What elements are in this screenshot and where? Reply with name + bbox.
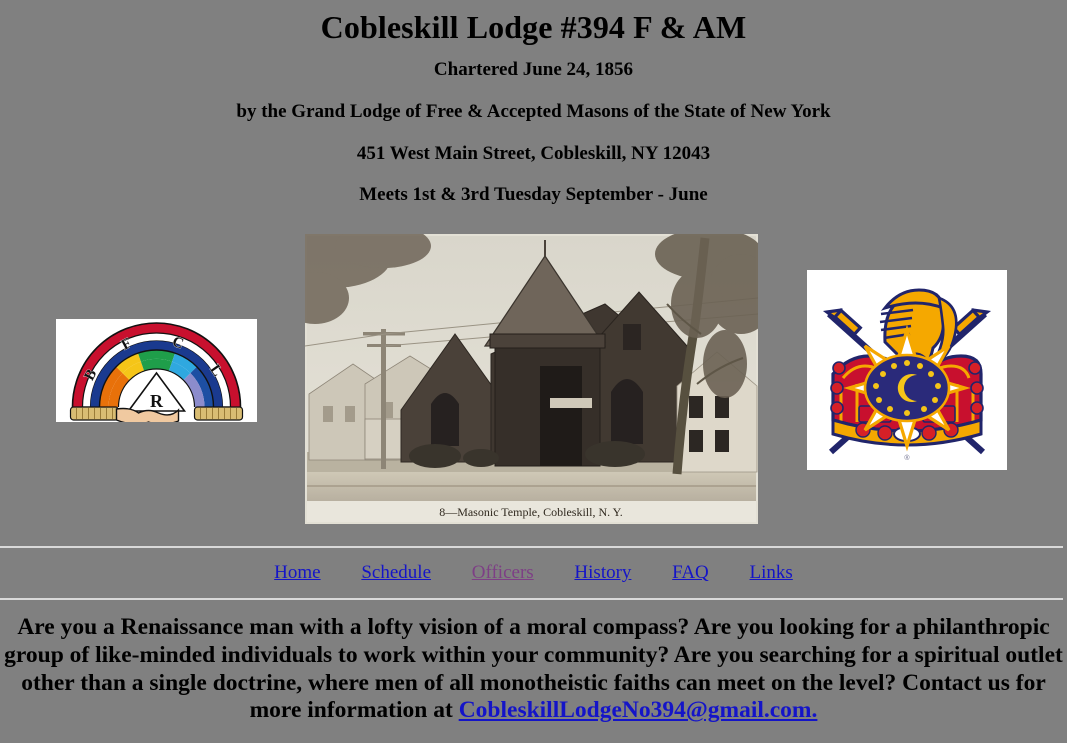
masonic-temple-photo-illustration: 8—Masonic Temple, Cobleskill, N. Y. [305,234,758,524]
main-navigation: Home Schedule Officers History FAQ Links [0,548,1067,598]
demolay-emblem: ® [807,270,1007,470]
nav-link-home[interactable]: Home [274,562,320,583]
registered-mark-icon: ® [904,454,910,462]
meeting-schedule-line: Meets 1st & 3rd Tuesday September - June [0,174,1067,216]
photo-caption: 8—Masonic Temple, Cobleskill, N. Y. [439,505,623,519]
rainbow-center-letter: R [150,391,164,411]
nav-link-faq[interactable]: FAQ [672,562,709,583]
address-line: 451 West Main Street, Cobleskill, NY 120… [0,133,1067,175]
page-title: Cobleskill Lodge #394 F & AM [0,4,1067,49]
charter-date-line: Chartered June 24, 1856 [0,49,1067,91]
nav-link-schedule[interactable]: Schedule [361,562,431,583]
nav-link-officers[interactable]: Officers [472,562,534,583]
contact-email-link[interactable]: CobleskillLodgeNo394@gmail.com. [459,697,818,723]
membership-pitch: Are you a Renaissance man with a lofty v… [0,600,1067,725]
grand-lodge-line: by the Grand Lodge of Free & Accepted Ma… [0,91,1067,133]
demolay-emblem-icon: ® [807,270,1007,470]
nav-link-history[interactable]: History [574,562,631,583]
nav-link-links[interactable]: Links [750,562,793,583]
masonic-temple-postcard: 8—Masonic Temple, Cobleskill, N. Y. [305,234,758,524]
rainbow-girls-emblem: R B F C L [56,319,257,422]
page-header: Cobleskill Lodge #394 F & AM Chartered J… [0,0,1067,216]
emblem-image-row: R B F C L [0,234,1067,546]
rainbow-girls-emblem-icon: R B F C L [56,319,257,422]
